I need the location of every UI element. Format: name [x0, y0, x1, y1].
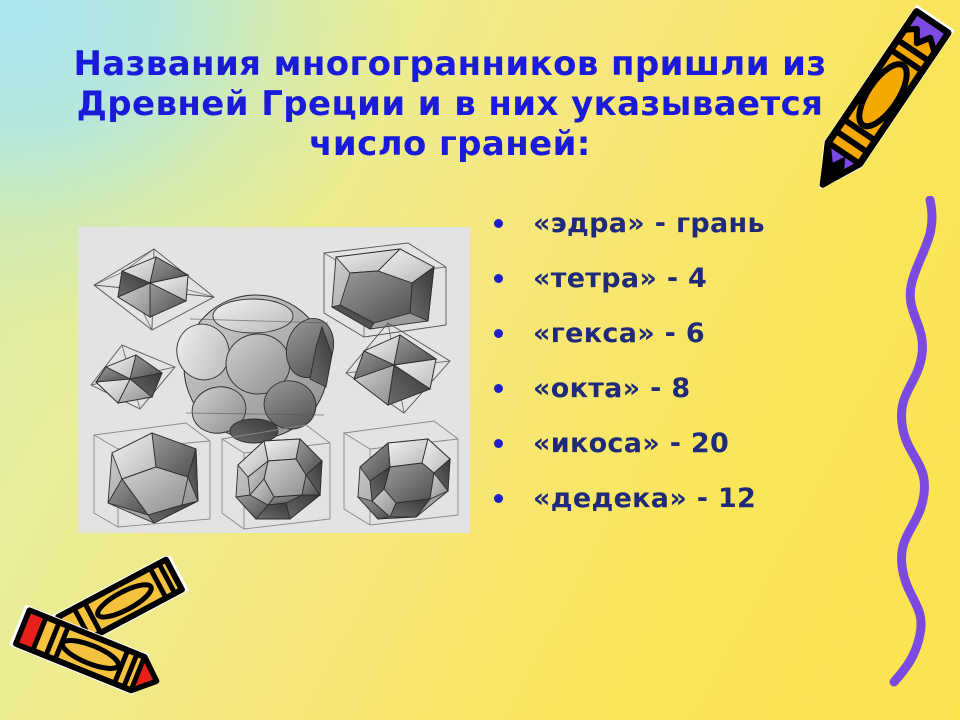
- page-title: Названия многогранников пришли из Древне…: [55, 44, 845, 164]
- slide-canvas: Названия многогранников пришли из Древне…: [0, 0, 960, 720]
- list-item: «икоса» - 20: [488, 416, 908, 471]
- bullet-icon: [494, 219, 503, 228]
- list-item: «тетра» - 4: [488, 251, 908, 306]
- list-item-label: «окта» - 8: [533, 373, 690, 404]
- list-item: «дедека» - 12: [488, 471, 908, 526]
- list-item: «окта» - 8: [488, 361, 908, 416]
- title-line-1: Названия многогранников пришли из: [55, 44, 845, 84]
- bullet-icon: [494, 329, 503, 338]
- bullet-icon: [494, 439, 503, 448]
- bullet-icon: [494, 384, 503, 393]
- list-item: «эдра» - грань: [488, 196, 908, 251]
- polyhedra-image: [78, 227, 470, 533]
- list-item-label: «гекса» - 6: [533, 318, 705, 349]
- polyhedra-terms-list: «эдра» - грань «тетра» - 4 «гекса» - 6 «…: [488, 196, 908, 526]
- list-item: «гекса» - 6: [488, 306, 908, 361]
- title-line-3: число граней:: [55, 124, 845, 164]
- polyhedra-illustration: [78, 227, 470, 533]
- crayons-bottom-left-icon: [0, 556, 224, 720]
- list-item-label: «тетра» - 4: [533, 263, 707, 294]
- bullet-icon: [494, 494, 503, 503]
- list-item-label: «эдра» - грань: [533, 208, 765, 239]
- list-item-label: «икоса» - 20: [533, 428, 729, 459]
- list-item-label: «дедека» - 12: [533, 483, 756, 514]
- title-line-2: Древней Греции и в них указывается: [55, 84, 845, 124]
- bullet-icon: [494, 274, 503, 283]
